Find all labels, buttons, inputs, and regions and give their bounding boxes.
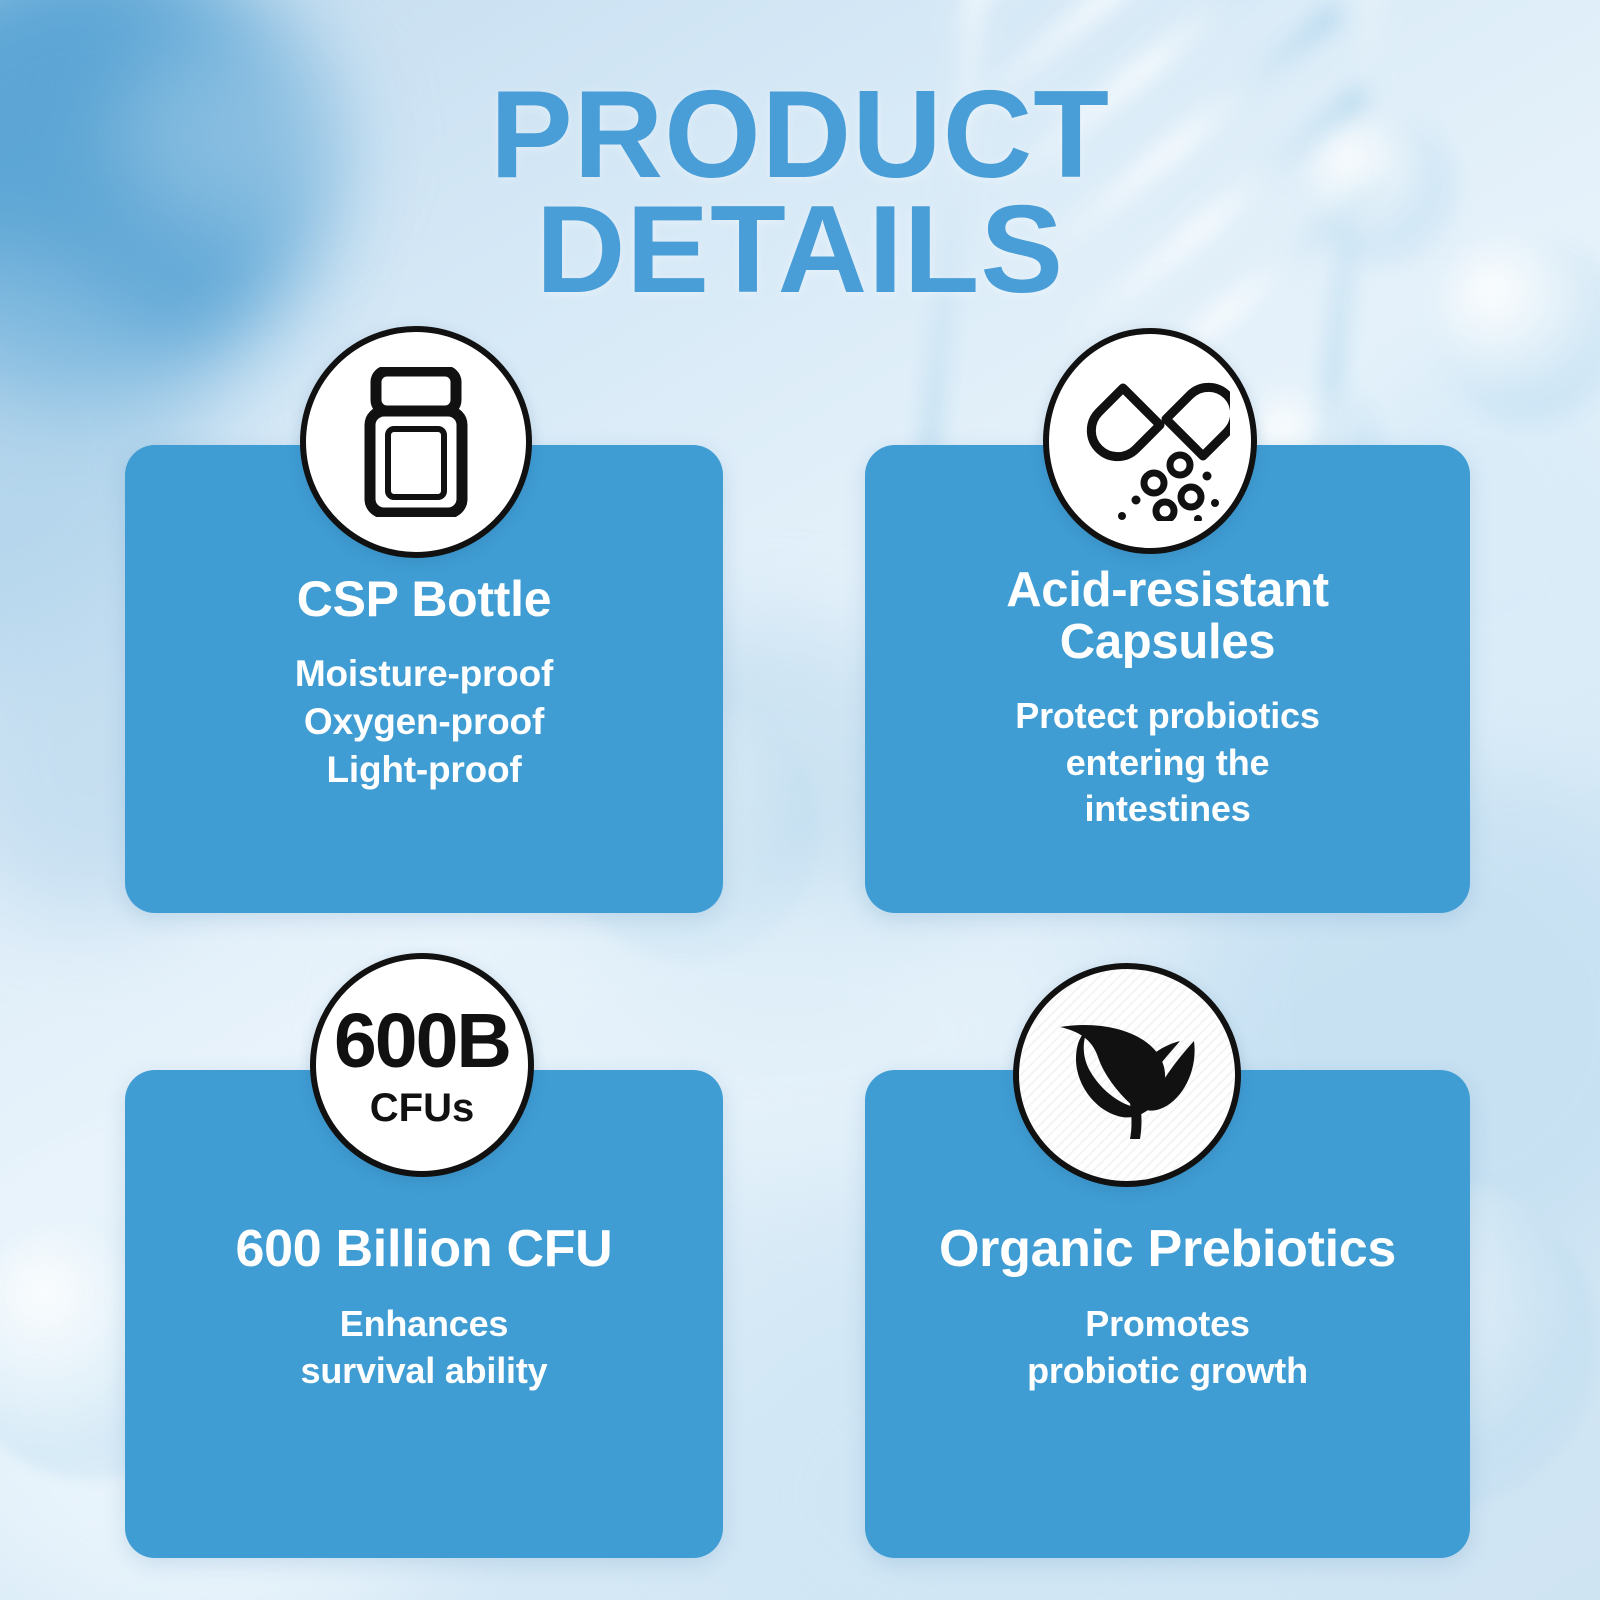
- feature-card-title-line: Capsules: [899, 617, 1436, 669]
- feature-card-title-line: Acid-resistant: [899, 565, 1436, 617]
- feature-card-description-line: Promotes: [899, 1301, 1436, 1348]
- feature-card-description-line: Oxygen-proof: [159, 698, 689, 746]
- feature-card-title: CSP Bottle: [159, 573, 689, 626]
- feature-card-description-line: probiotic growth: [899, 1348, 1436, 1395]
- feature-card-description: Enhances survival ability: [159, 1301, 689, 1395]
- feature-card-description-line: entering the: [899, 740, 1436, 787]
- cfu-badge-text: 600B CFUs: [334, 1003, 510, 1128]
- cfu-badge-unit: CFUs: [334, 1088, 510, 1128]
- feature-card-body: CSP Bottle Moisture-proof Oxygen-proof L…: [125, 573, 723, 794]
- cfu-badge-icon: 600B CFUs: [310, 953, 534, 1177]
- feature-card-description-line: Enhances: [159, 1301, 689, 1348]
- leaf-icon-badge: [1013, 963, 1241, 1187]
- bottle-icon: [356, 367, 476, 517]
- feature-card-description-line: intestines: [899, 786, 1436, 833]
- open-capsule-icon: [1070, 361, 1230, 521]
- cfu-badge-value: 600B: [334, 1003, 510, 1080]
- feature-card-description-line: Moisture-proof: [159, 650, 689, 698]
- feature-card-description: Protect probiotics entering the intestin…: [899, 693, 1436, 833]
- feature-card-title: Organic Prebiotics: [899, 1222, 1436, 1277]
- feature-card-description-line: Protect probiotics: [899, 693, 1436, 740]
- page-title: PRODUCT DETAILS: [0, 78, 1600, 309]
- leaf-icon: [1052, 1005, 1202, 1145]
- feature-card-description: Promotes probiotic growth: [899, 1301, 1436, 1395]
- open-capsule-icon-badge: [1043, 328, 1257, 554]
- feature-card-body: 600 Billion CFU Enhances survival abilit…: [125, 1222, 723, 1395]
- feature-card-title: Acid-resistant Capsules: [899, 565, 1436, 669]
- feature-card-body: Organic Prebiotics Promotes probiotic gr…: [865, 1222, 1470, 1395]
- infographic-canvas: PRODUCT DETAILS CSP Bottle Moisture-proo…: [0, 0, 1600, 1600]
- feature-card-description-line: survival ability: [159, 1348, 689, 1395]
- bottle-icon-badge: [300, 326, 532, 558]
- feature-card-description-line: Light-proof: [159, 746, 689, 794]
- page-title-line-2: DETAILS: [0, 193, 1600, 308]
- feature-card-body: Acid-resistant Capsules Protect probioti…: [865, 565, 1470, 833]
- feature-card-description: Moisture-proof Oxygen-proof Light-proof: [159, 650, 689, 794]
- page-title-line-1: PRODUCT: [0, 78, 1600, 193]
- feature-card-title: 600 Billion CFU: [159, 1222, 689, 1277]
